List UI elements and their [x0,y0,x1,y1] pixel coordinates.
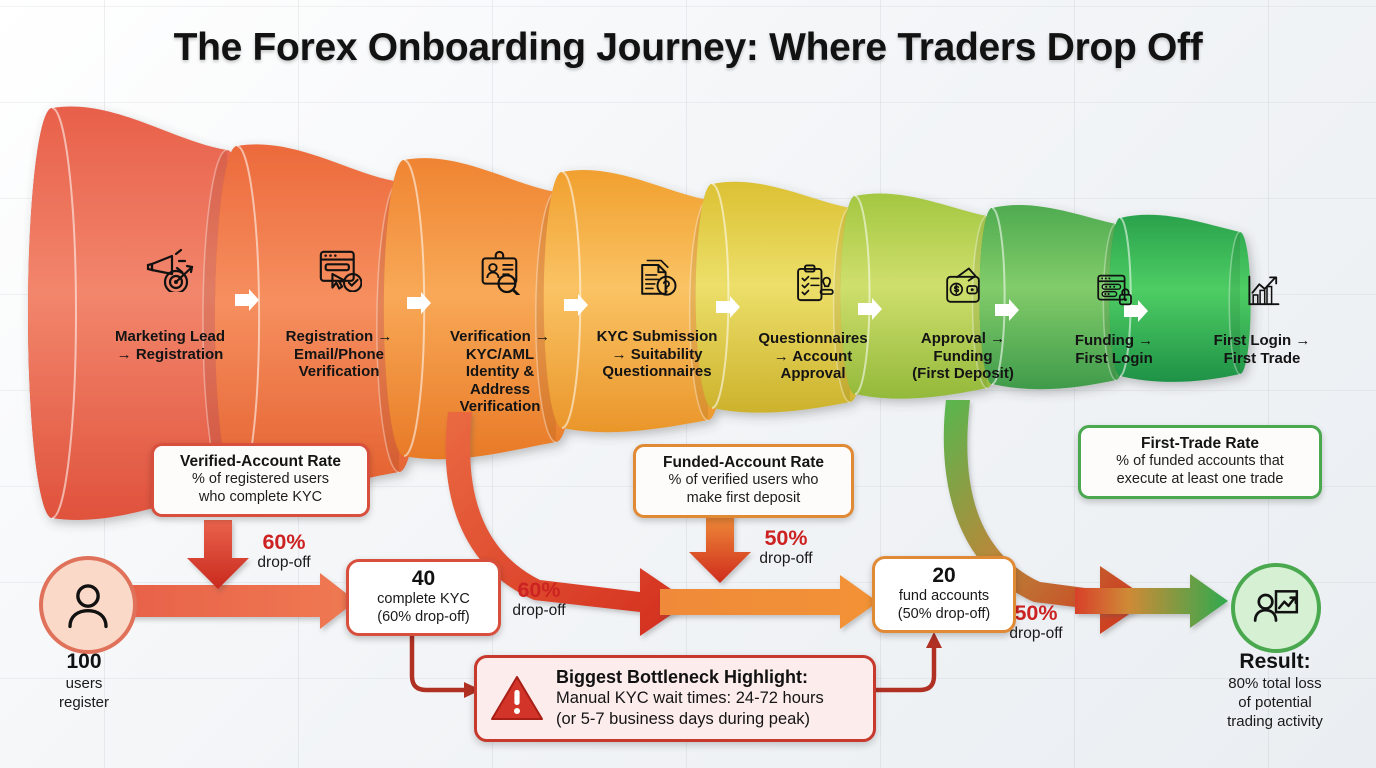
bottleneck-line1: Manual KYC wait times: 24-72 hours [556,688,859,709]
dropoff-arrow-3 [689,512,751,583]
callout-title: First-Trade Rate [1090,435,1310,453]
clipboard-stamp-icon [792,262,834,309]
start-line2: register [14,693,154,712]
node-number: 20 [883,564,1005,588]
megaphone-target-icon [146,244,194,297]
node-number: 40 [357,567,490,591]
bottleneck-title: Biggest Bottleneck Highlight: [556,666,859,688]
result-avatar [1231,563,1321,653]
user-avatar-icon [61,578,115,632]
node-line1: fund accounts [883,588,1005,606]
result-label: Result: 80% total loss of potential trad… [1185,650,1365,731]
documents-question-icon [635,256,678,304]
node-complete-kyc: 40 complete KYC (60% drop-off) [346,559,501,636]
flow-arrow-3 [1075,574,1228,628]
id-card-magnifier-icon [478,250,523,300]
start-label: 100 users register [14,650,154,712]
start-avatar [39,556,137,654]
node-line2: (50% drop-off) [883,606,1005,624]
connector-kyc-to-bottleneck [412,634,481,698]
callout-line: % of funded accounts that [1090,453,1310,471]
user-chart-icon [1251,583,1301,633]
callout-funded-account-rate: Funded-Account Rate % of verified users … [633,444,854,518]
callout-line: make first deposit [645,490,842,508]
callout-line: execute at least one trade [1090,471,1310,489]
login-lock-icon [1095,270,1133,313]
callout-line: who complete KYC [163,489,358,507]
callout-line: % of registered users [163,471,358,489]
connector-bottleneck-to-funded [872,632,942,690]
flow-arrow-1 [125,573,356,629]
bottleneck-highlight: Biggest Bottleneck Highlight: Manual KYC… [474,655,876,742]
callout-title: Verified-Account Rate [163,453,358,471]
result-title: Result: [1185,650,1365,674]
callout-first-trade-rate: First-Trade Rate % of funded accounts th… [1078,425,1322,499]
callout-line: % of verified users who [645,472,842,490]
growth-chart-icon [1244,272,1281,314]
callout-verified-account-rate: Verified-Account Rate % of registered us… [151,443,370,517]
node-line2: (60% drop-off) [357,609,490,627]
browser-cursor-check-icon [316,246,362,297]
flow-arrows [0,0,1376,768]
callout-title: Funded-Account Rate [645,454,842,472]
result-line3: trading activity [1185,712,1365,731]
result-line2: of potential [1185,693,1365,712]
bottleneck-line2: (or 5-7 business days during peak) [556,709,859,730]
dropoff-arrow-1 [187,520,249,589]
start-line1: users [14,674,154,693]
warning-triangle-icon [489,673,545,723]
wallet-dollar-icon [943,266,983,311]
result-line1: 80% total loss [1185,674,1365,693]
node-line1: complete KYC [357,591,490,609]
start-number: 100 [14,650,154,674]
node-fund-accounts: 20 fund accounts (50% drop-off) [872,556,1016,633]
flow-arrow-2 [660,575,878,629]
